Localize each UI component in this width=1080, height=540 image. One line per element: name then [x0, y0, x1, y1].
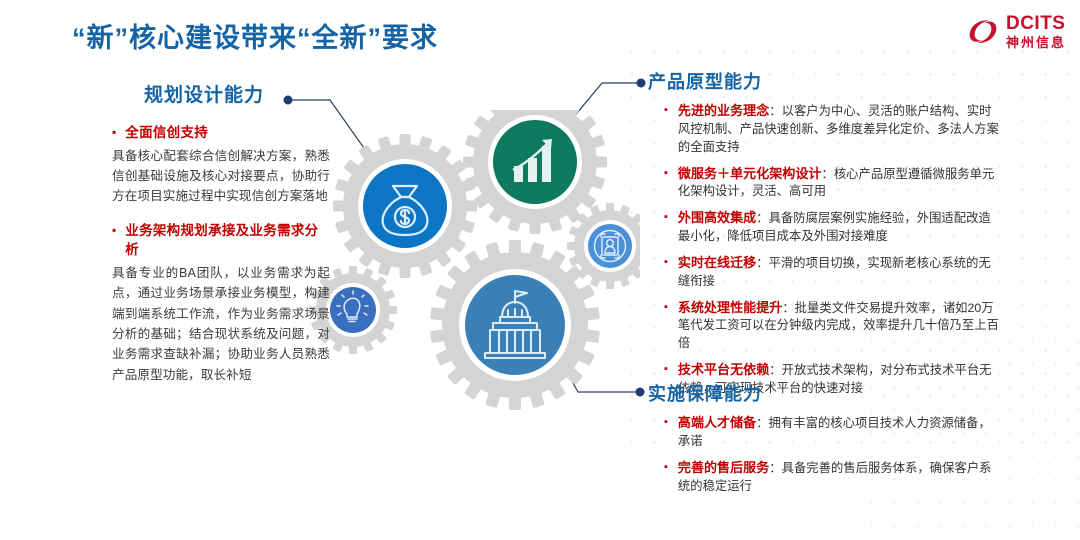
section-heading-product: 产品原型能力	[648, 68, 1000, 94]
gear-capitol-building	[430, 240, 600, 410]
gear-money-bag	[333, 134, 477, 278]
bullet-dot-icon: ▪	[664, 209, 668, 246]
product-item-3: ▪ 实时在线迁移：平滑的项目切换，实现新老核心系统的无缝衔接	[648, 254, 1000, 291]
left-bullet-1-body: 具备专业的BA团队，以业务需求为起点，通过业务场景承接业务模型，构建端到端系统工…	[112, 263, 330, 385]
product-item-4-text: 系统处理性能提升：批量类文件交易提升效率，诸如20万笔代发工资可以在分钟级内完成…	[678, 299, 1000, 354]
bullet-dot-icon: ▪	[664, 459, 668, 496]
product-item-3-lead: 实时在线迁移	[678, 255, 756, 270]
logo-text-cn: 神州信息	[1006, 36, 1066, 49]
product-item-4: ▪ 系统处理性能提升：批量类文件交易提升效率，诸如20万笔代发工资可以在分钟级内…	[648, 299, 1000, 354]
product-item-5-lead: 技术平台无依赖	[678, 362, 769, 377]
bullet-dot-icon: ▪	[664, 414, 668, 451]
bullet-dot-icon: ▪	[664, 299, 668, 354]
impl-item-0: ▪ 高端人才储备：拥有丰富的核心项目技术人力资源储备，承诺	[648, 414, 1000, 451]
impl-item-1: ▪ 完善的售后服务：具备完善的售后服务体系，确保客户系统的稳定运行	[648, 459, 1000, 496]
bullet-dot-icon: ▪	[664, 254, 668, 291]
gear-growth-chart	[463, 110, 607, 234]
bullet-dot-icon: ▪	[664, 165, 668, 202]
left-column: 规划设计能力 ▪ 全面信创支持 具备核心配套综合信创解决方案，熟悉信创基础设施及…	[112, 80, 330, 399]
product-item-1-lead: 微服务＋单元化架构设计	[678, 166, 822, 181]
gear-illustration	[300, 110, 640, 410]
company-logo: DCITS 神州信息	[966, 14, 1066, 49]
bullet-dot-icon: ▪	[664, 102, 668, 157]
bullet-dot-icon: ▪	[112, 221, 116, 260]
impl-item-0-text: 高端人才储备：拥有丰富的核心项目技术人力资源储备，承诺	[678, 414, 1000, 451]
left-bullet-1-head: 业务架构规划承接及业务需求分析	[125, 221, 330, 260]
product-item-1-text: 微服务＋单元化架构设计：核心产品原型遵循微服务单元化架构设计，灵活、高可用	[678, 165, 1000, 202]
page-title: “新”核心建设带来“全新”要求	[72, 16, 438, 55]
dcits-swirl-icon	[966, 17, 1000, 47]
right-column-implementation: 实施保障能力 ▪ 高端人才储备：拥有丰富的核心项目技术人力资源储备，承诺 ▪ 完…	[648, 380, 1000, 503]
logo-text-en: DCITS	[1006, 14, 1066, 33]
product-item-0-lead: 先进的业务理念	[678, 103, 769, 118]
left-bullet-0-head: 全面信创支持	[125, 123, 208, 143]
impl-item-1-lead: 完善的售后服务	[678, 460, 769, 475]
right-column-product: 产品原型能力 ▪ 先进的业务理念：以客户为中心、灵活的账户结构、实时风控机制、产…	[648, 68, 1000, 406]
product-item-1: ▪ 微服务＋单元化架构设计：核心产品原型遵循微服务单元化架构设计，灵活、高可用	[648, 165, 1000, 202]
product-item-4-lead: 系统处理性能提升	[678, 300, 782, 315]
gear-cluster-svg	[300, 110, 640, 410]
left-bullet-0-body: 具备核心配套综合信创解决方案，熟悉信创基础设施及核心对接要点，协助行方在项目实施…	[112, 146, 330, 207]
impl-item-0-lead: 高端人才储备	[678, 415, 756, 430]
impl-item-1-text: 完善的售后服务：具备完善的售后服务体系，确保客户系统的稳定运行	[678, 459, 1000, 496]
left-bullet-0: ▪ 全面信创支持	[112, 123, 330, 143]
slide-root: “新”核心建设带来“全新”要求 DCITS 神州信息	[0, 0, 1080, 540]
section-heading-implementation: 实施保障能力	[648, 380, 1000, 406]
product-item-0-text: 先进的业务理念：以客户为中心、灵活的账户结构、实时风控机制、产品快速创新、多维度…	[678, 102, 1000, 157]
left-bullet-1: ▪ 业务架构规划承接及业务需求分析	[112, 221, 330, 260]
bullet-dot-icon: ▪	[112, 123, 116, 143]
product-item-2-lead: 外围高效集成	[678, 210, 756, 225]
product-item-0: ▪ 先进的业务理念：以客户为中心、灵活的账户结构、实时风控机制、产品快速创新、多…	[648, 102, 1000, 157]
product-item-2-text: 外围高效集成：具备防腐层案例实施经验，外围适配改造最小化，降低项目成本及外围对接…	[678, 209, 1000, 246]
product-item-2: ▪ 外围高效集成：具备防腐层案例实施经验，外围适配改造最小化，降低项目成本及外围…	[648, 209, 1000, 246]
product-item-3-text: 实时在线迁移：平滑的项目切换，实现新老核心系统的无缝衔接	[678, 254, 1000, 291]
section-heading-planning: 规划设计能力	[144, 80, 330, 107]
